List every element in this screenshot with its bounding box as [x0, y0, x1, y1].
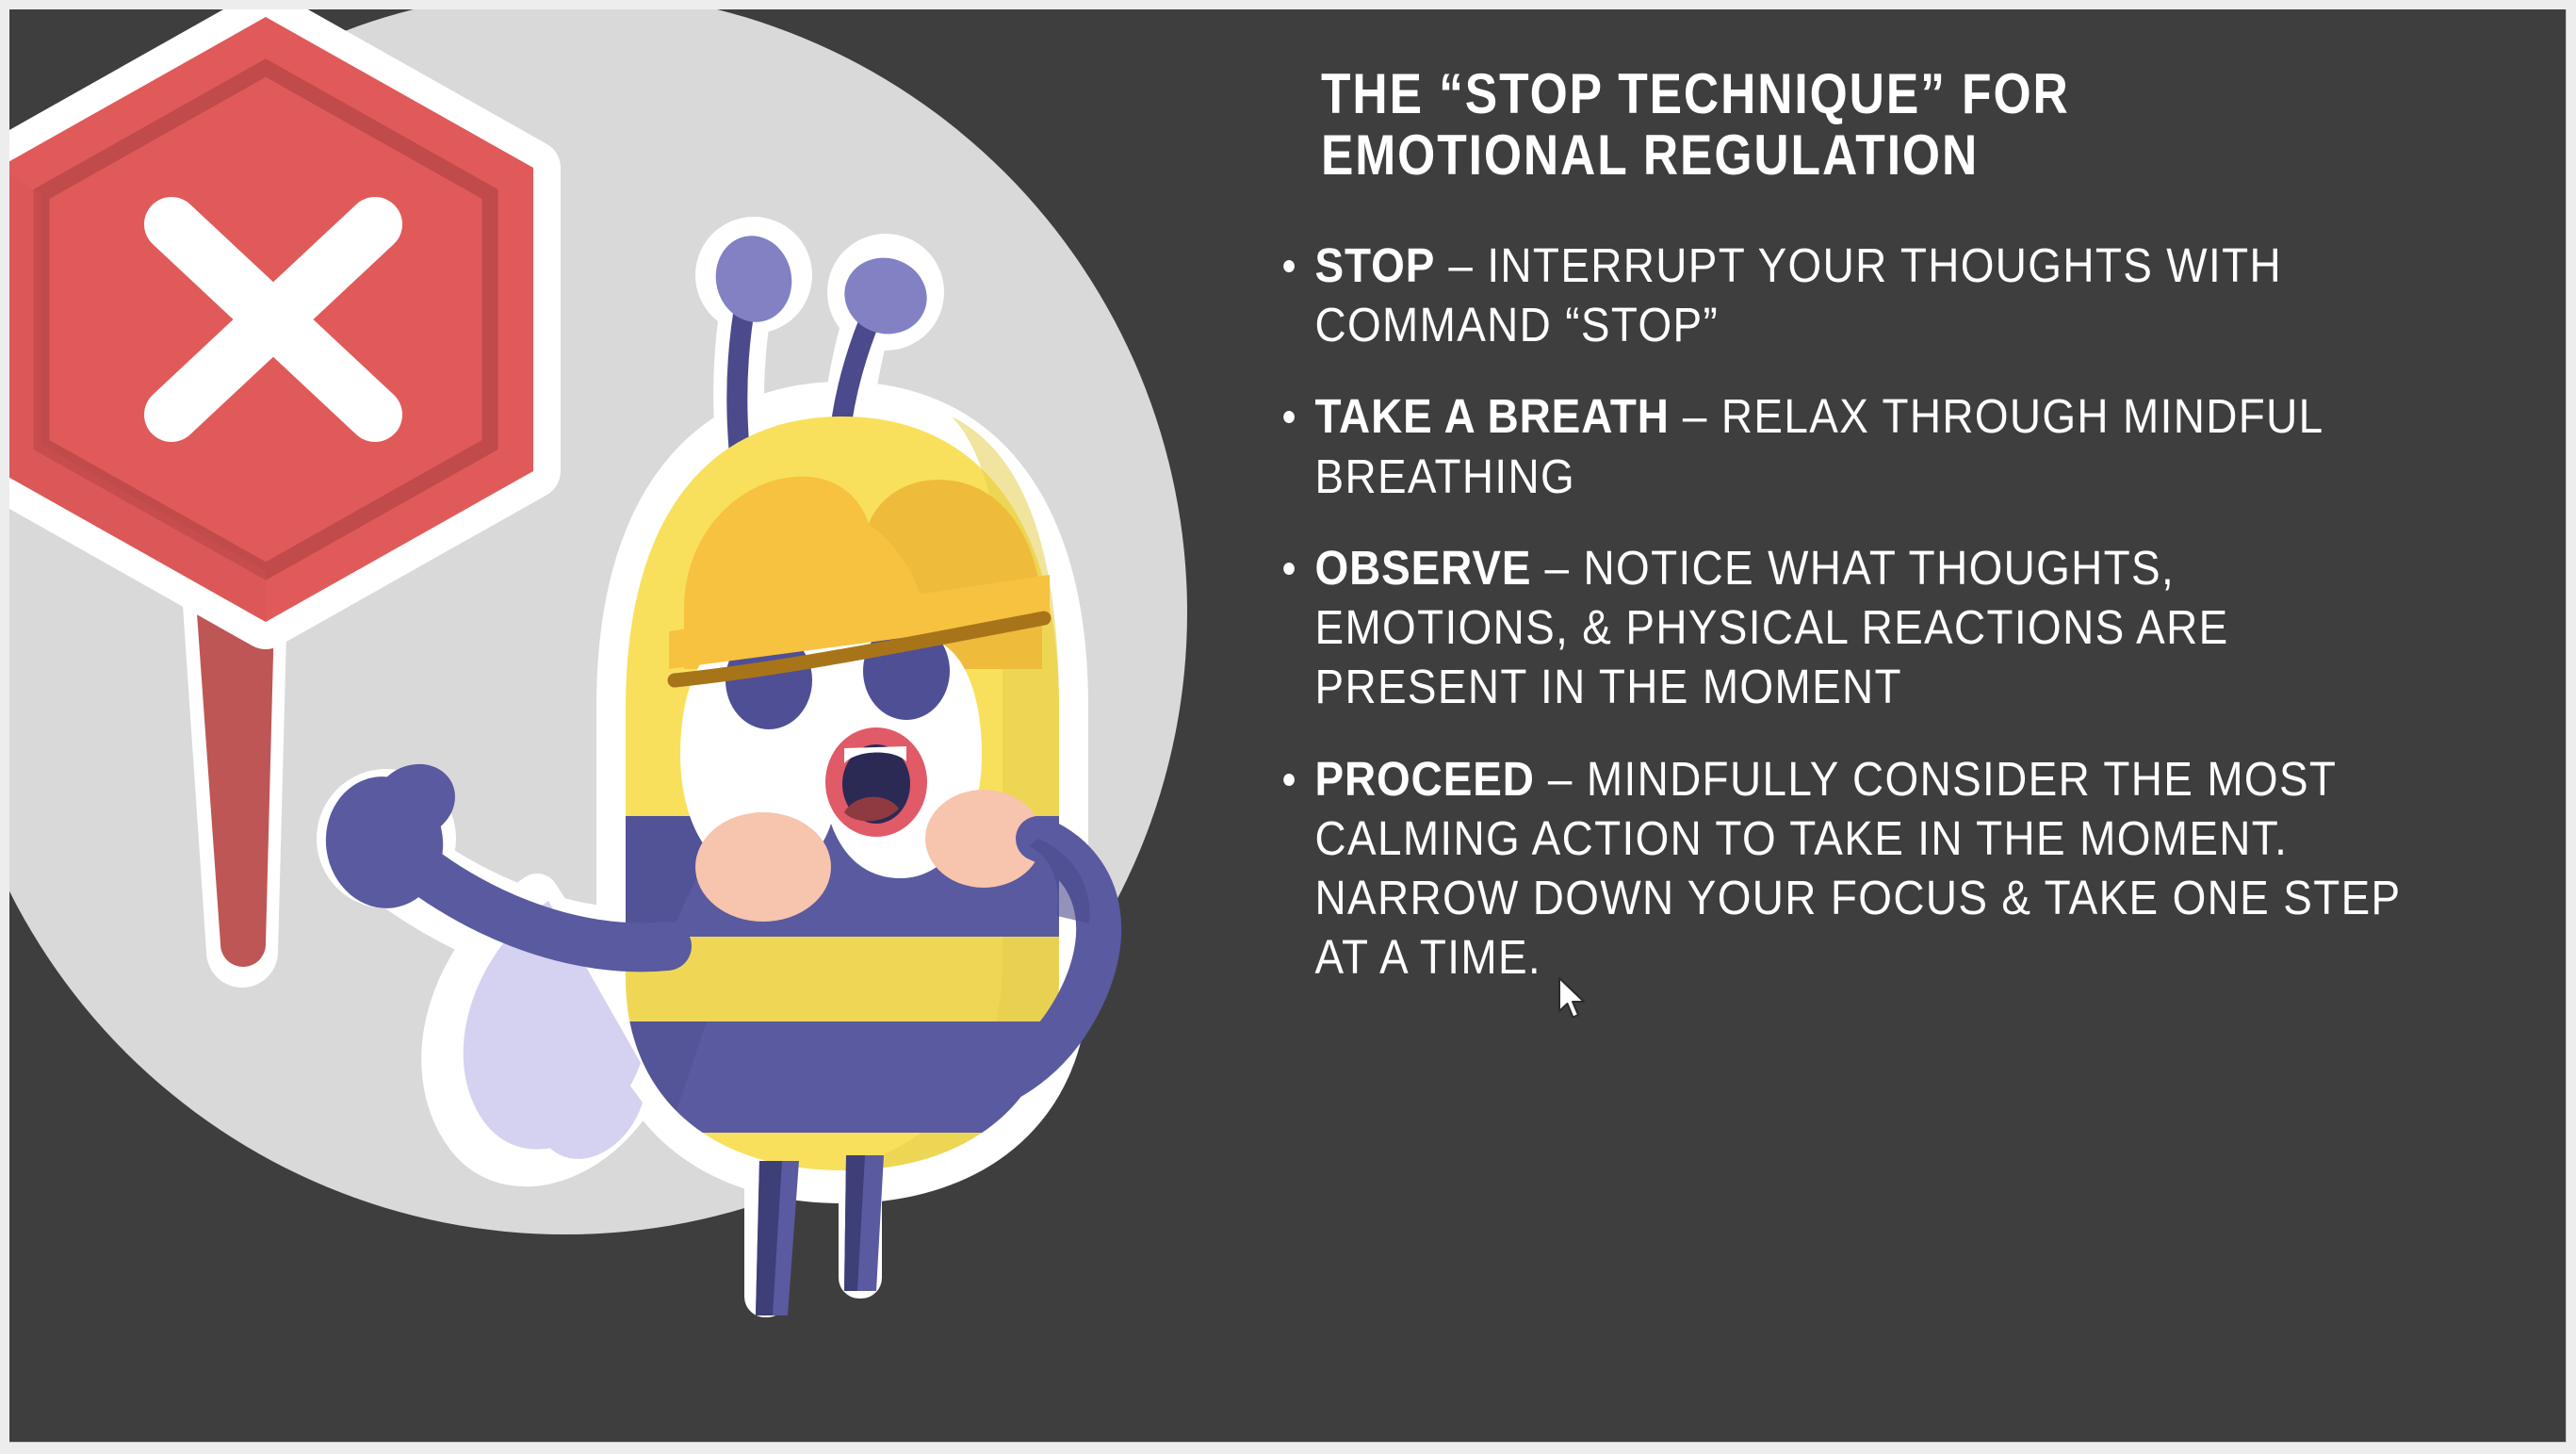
- slide-canvas: THE “STOP TECHNIQUE” FOR EMOTIONAL REGUL…: [9, 9, 2567, 1443]
- bullet-list: STOP – INTERRUPT YOUR THOUGHTS WITH COMM…: [1268, 236, 2567, 988]
- bullet-text: STOP – INTERRUPT YOUR THOUGHTS WITH COMM…: [1315, 236, 2439, 354]
- bullet-dot-icon: [1283, 774, 1295, 786]
- bullet-lead-label: PROCEED: [1315, 752, 1535, 806]
- bullet-lead-label: TAKE A BREATH: [1315, 389, 1670, 443]
- list-item: PROCEED – MINDFULLY CONSIDER THE MOST CA…: [1268, 749, 2438, 988]
- bullet-rest-text: – INTERRUPT YOUR THOUGHTS WITH COMMAND “…: [1315, 238, 2282, 351]
- bullet-dot-icon: [1283, 260, 1295, 272]
- bullet-dot-icon: [1283, 411, 1295, 423]
- bee-stop-sign-illustration: [9, 9, 1225, 1443]
- cheek-left: [695, 812, 831, 922]
- bullet-text: PROCEED – MINDFULLY CONSIDER THE MOST CA…: [1315, 749, 2439, 988]
- page-title: THE “STOP TECHNIQUE” FOR EMOTIONAL REGUL…: [1321, 64, 2383, 187]
- bullet-text: OBSERVE – NOTICE WHAT THOUGHTS, EMOTIONS…: [1315, 538, 2439, 717]
- list-item: OBSERVE – NOTICE WHAT THOUGHTS, EMOTIONS…: [1268, 538, 2438, 717]
- list-item: STOP – INTERRUPT YOUR THOUGHTS WITH COMM…: [1268, 236, 2438, 354]
- bullet-text: TAKE A BREATH – RELAX THROUGH MINDFUL BR…: [1315, 386, 2439, 505]
- stop-sign: [9, 17, 533, 622]
- bullet-lead-label: STOP: [1315, 238, 1436, 292]
- list-item: TAKE A BREATH – RELAX THROUGH MINDFUL BR…: [1268, 386, 2438, 505]
- bullet-dot-icon: [1283, 563, 1295, 575]
- bee-mouth: [825, 727, 927, 837]
- slide-text-column: THE “STOP TECHNIQUE” FOR EMOTIONAL REGUL…: [1319, 9, 2563, 1443]
- bullet-lead-label: OBSERVE: [1315, 541, 1532, 595]
